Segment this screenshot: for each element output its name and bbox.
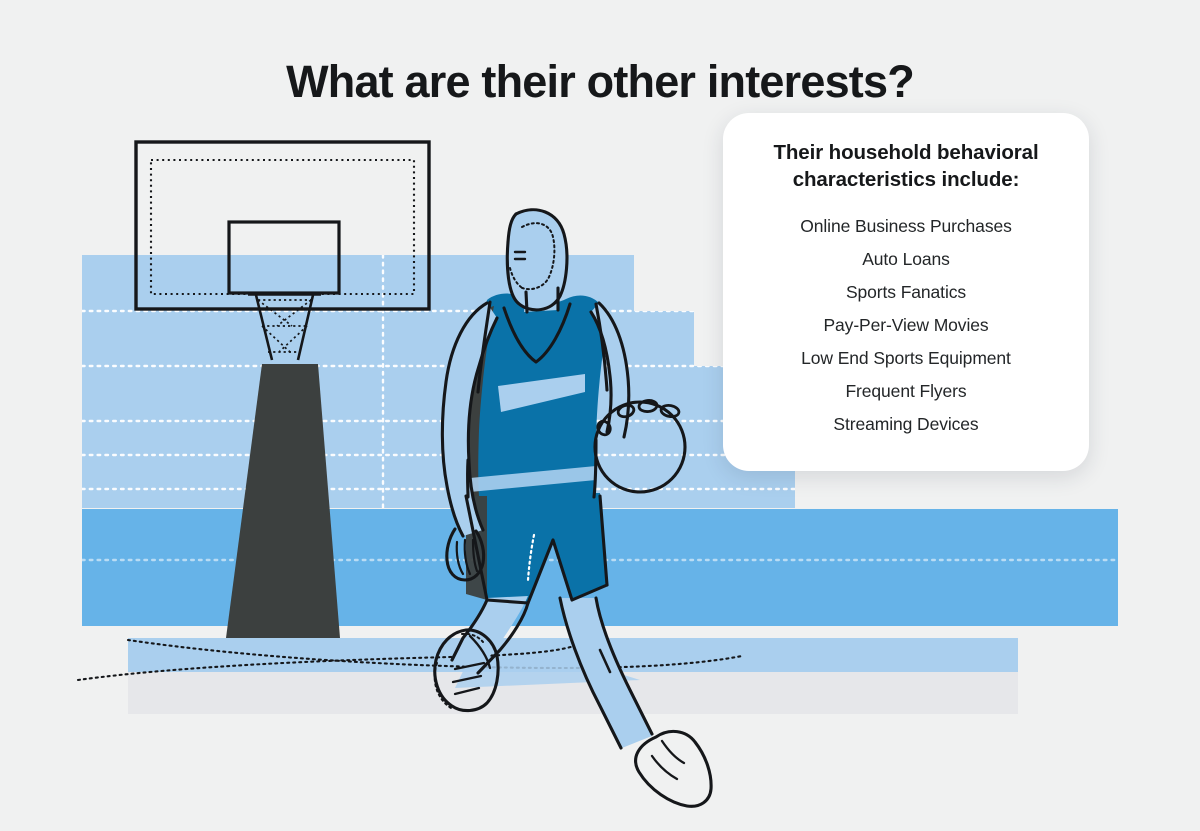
- card-heading: Their household behavioral characteristi…: [741, 139, 1071, 194]
- list-item: Streaming Devices: [741, 408, 1071, 441]
- court-light-blue-region: [82, 255, 800, 508]
- page-root: What are their other interests? Their ho…: [0, 0, 1200, 831]
- list-item: Low End Sports Equipment: [741, 342, 1071, 375]
- list-item: Auto Loans: [741, 243, 1071, 276]
- list-item: Sports Fanatics: [741, 276, 1071, 309]
- list-item: Pay-Per-View Movies: [741, 309, 1071, 342]
- list-item: Frequent Flyers: [741, 375, 1071, 408]
- page-title: What are their other interests?: [0, 56, 1200, 108]
- list-item: Online Business Purchases: [741, 210, 1071, 243]
- behavioral-characteristics-card: Their household behavioral characteristi…: [723, 113, 1089, 471]
